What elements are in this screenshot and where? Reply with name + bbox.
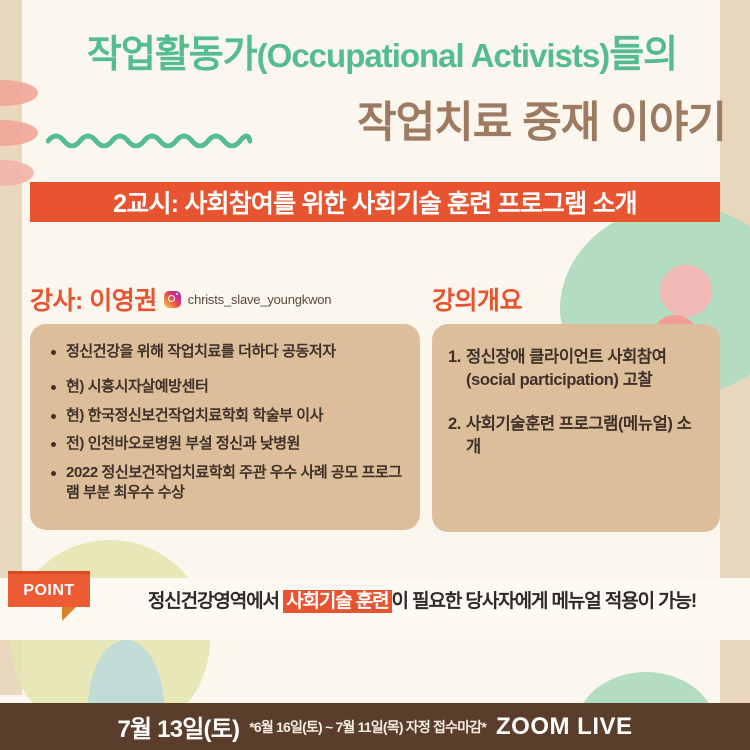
session-banner-text: 2교시: 사회참여를 위한 사회기술 훈련 프로그램 소개 — [113, 184, 637, 220]
poster-title-block: 작업활동가(Occupational Activists)들의 작업치료 중재 … — [0, 34, 750, 150]
overview-card: 1. 정신장애 클라이언트 사회참여 (social participation… — [432, 324, 720, 532]
overview-heading: 강의개요 — [432, 281, 522, 317]
title-line-1: 작업활동가(Occupational Activists)들의 — [0, 34, 750, 78]
list-item-text: 정신장애 클라이언트 사회참여 (social participation) 고… — [466, 346, 706, 393]
wavy-underline-icon — [46, 130, 252, 148]
overview-items-list: 1. 정신장애 클라이언트 사회참여 (social participation… — [448, 346, 706, 460]
point-tag-tail — [62, 607, 76, 621]
list-item: 2022 정신보건작업치료학회 주관 우수 사례 공모 프로그램 부분 최우수 … — [44, 463, 404, 503]
session-banner: 2교시: 사회참여를 위한 사회기술 훈련 프로그램 소개 — [30, 182, 720, 222]
list-item: 전) 인천바오로병원 부설 정신과 낮병원 — [44, 434, 404, 454]
point-tag-label: POINT — [23, 582, 74, 600]
list-item: 정신건강을 위해 작업치료를 더하다 공동저자 — [44, 342, 404, 362]
event-date: 7월 13일(토) — [117, 709, 239, 744]
point-text-after: 이 필요한 당사자에게 메뉴얼 적용이 가능! — [392, 591, 697, 612]
list-item: 현) 시흥시자살예방센터 — [44, 377, 404, 397]
list-item: 2. 사회기술훈련 프로그램(메뉴얼) 소개 — [448, 413, 706, 460]
list-item-number: 2. — [448, 413, 461, 460]
title-korean-tail: 들의 — [609, 34, 677, 76]
platform-label: ZOOM LIVE — [496, 713, 633, 741]
footer-bar: 7월 13일(토) *6월 16일(토) ~ 7월 11일(목) 자정 접수마감… — [0, 703, 750, 750]
list-item: 현) 한국정신보건작업치료학회 학술부 이사 — [44, 406, 404, 426]
instagram-handle: christs_slave_youngkwon — [188, 292, 332, 307]
point-text-highlight: 사회기술 훈련 — [283, 590, 391, 613]
point-text-before: 정신건강영역에서 — [148, 591, 283, 612]
title-korean-lead: 작업활동가 — [87, 34, 257, 76]
poster-root: 작업활동가(Occupational Activists)들의 작업치료 중재 … — [0, 0, 750, 750]
right-bottom-tan-strip — [720, 655, 750, 703]
instructor-card: 정신건강을 위해 작업치료를 더하다 공동저자 현) 시흥시자살예방센터 현) … — [30, 324, 420, 530]
instructor-column: 강사: 이영권 christs_slave_youngkwon 정신건강을 위해… — [30, 282, 420, 530]
overview-heading-row: 강의개요 — [432, 282, 720, 316]
instagram-icon — [164, 291, 181, 308]
overview-column: 강의개요 1. 정신장애 클라이언트 사회참여 (social particip… — [432, 282, 720, 532]
list-item: 1. 정신장애 클라이언트 사회참여 (social participation… — [448, 346, 706, 393]
title-english: (Occupational Activists) — [257, 37, 610, 74]
point-tag: POINT — [8, 571, 90, 607]
list-item-text: 사회기술훈련 프로그램(메뉴얼) 소개 — [466, 413, 706, 460]
instructor-heading: 강사: 이영권 — [30, 281, 157, 317]
list-item-number: 1. — [448, 346, 461, 393]
point-text: 정신건강영역에서 사회기술 훈련이 필요한 당사자에게 메뉴얼 적용이 가능! — [112, 586, 732, 613]
instructor-credentials-list: 정신건강을 위해 작업치료를 더하다 공동저자 현) 시흥시자살예방센터 현) … — [44, 342, 404, 503]
instructor-heading-row: 강사: 이영권 christs_slave_youngkwon — [30, 282, 420, 316]
registration-deadline: *6월 16일(토) ~ 7월 11일(목) 자정 접수마감* — [249, 717, 486, 737]
